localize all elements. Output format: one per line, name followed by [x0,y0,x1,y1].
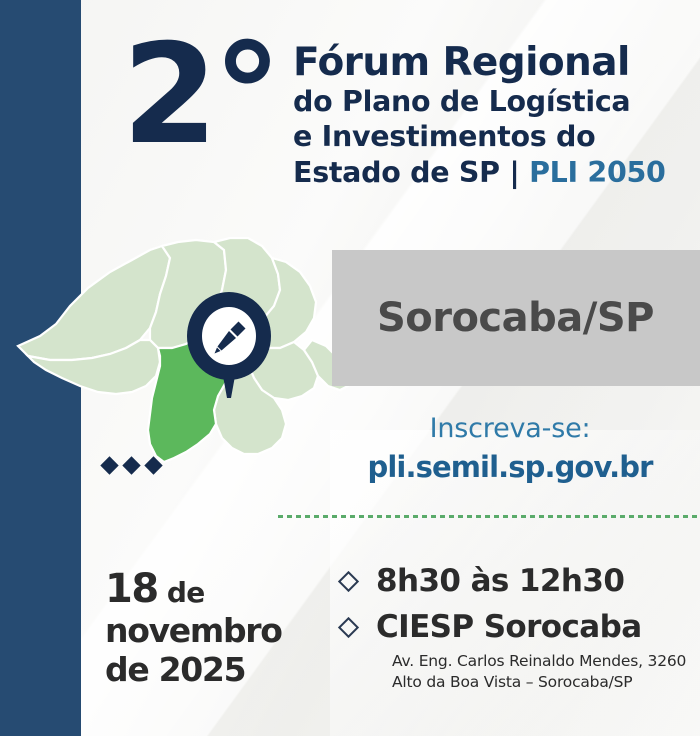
title-line-2: do Plano de Logística [293,84,666,120]
detail-row-venue: CIESP Sorocaba [338,609,688,645]
poster-header: 2° Fórum Regional do Plano de Logística … [122,34,682,191]
diamond-icon [122,456,140,474]
edition-ordinal: 2° [122,36,277,155]
event-address: Av. Eng. Carlos Reinaldo Mendes, 3260 Al… [392,651,688,692]
title-block: Fórum Regional do Plano de Logística e I… [293,34,666,191]
address-line-1: Av. Eng. Carlos Reinaldo Mendes, 3260 [392,651,688,672]
date-preposition: de [158,576,205,609]
event-details: 8h30 às 12h30 CIESP Sorocaba Av. Eng. Ca… [338,563,688,692]
city-banner: Sorocaba/SP [332,250,700,386]
title-separator: | [509,156,519,189]
diamond-icon [100,456,118,474]
date-month: novembro [105,612,330,650]
dashed-divider [278,515,700,518]
map-regions [18,238,348,462]
detail-row-time: 8h30 às 12h30 [338,563,688,599]
title-line-4: Estado de SP | PLI 2050 [293,155,666,191]
diamond-outline-icon [338,616,359,637]
page-title: Fórum Regional [293,42,666,84]
pin-svg [186,292,272,400]
date-day: 18 [105,566,158,612]
address-line-2: Alto da Boa Vista – Sorocaba/SP [392,672,688,693]
signup-label: Inscreva-se: [330,413,690,444]
sao-paulo-state-map [0,228,360,528]
date-year: de 2025 [105,651,330,689]
diamond-outline-icon [338,570,359,591]
signup-block: Inscreva-se: pli.semil.sp.gov.br [330,413,690,484]
city-name: Sorocaba/SP [377,295,654,341]
date-line-1: 18 de [105,566,330,612]
title-accent-pli: PLI 2050 [529,156,666,189]
signup-url-link[interactable]: pli.semil.sp.gov.br [330,450,690,484]
title-line-3: e Investimentos do [293,119,666,155]
title-line-4-prefix: Estado de SP [293,156,500,189]
map-svg [0,228,360,528]
event-venue: CIESP Sorocaba [376,609,642,645]
event-time: 8h30 às 12h30 [376,563,624,599]
map-pin-pencil-icon [186,292,272,400]
event-date: 18 de novembro de 2025 [105,566,330,689]
event-poster: 2° Fórum Regional do Plano de Logística … [0,0,700,736]
decorative-diamond-row [103,459,160,472]
diamond-icon [144,456,162,474]
